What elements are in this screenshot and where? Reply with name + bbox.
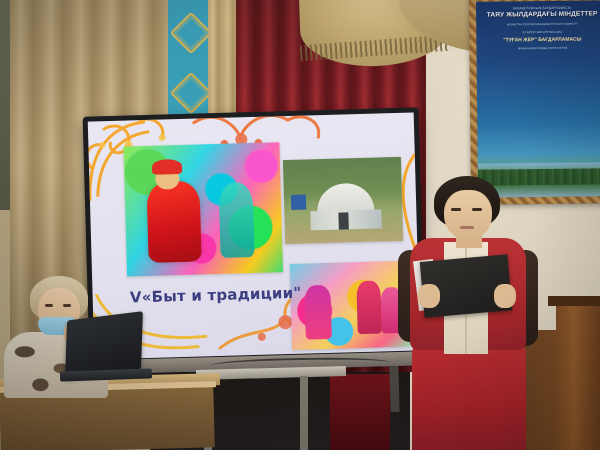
banner-body-line-3: ЖАҢА ҚАЗАҚСТАНДЫҚ ПАТРИОТИЗМ	[476, 46, 600, 51]
seated-woman-eye-right	[63, 304, 71, 307]
piano-lid	[548, 296, 600, 306]
slide-image-yurt	[283, 157, 403, 244]
banner-body-line-1: ҚАЗАҚСТАН РЕСПУБЛИКАСЫНЫҢ РУХАНИ ЖАҢҒЫРУ	[476, 22, 600, 27]
banner-subheading: "ТУҒАН ЖЕР" БАҒДАРЛАМАСЫ	[476, 36, 600, 43]
slide-image-dombra-player	[123, 142, 283, 276]
slide-title: V«Быт и традиции"	[120, 283, 310, 306]
presenter-face	[444, 190, 492, 240]
presenter-skirt	[412, 346, 526, 450]
seated-woman-eye-left	[45, 304, 53, 307]
standing-presenter	[396, 176, 548, 450]
dancer-figure	[218, 182, 254, 258]
presenter-eye-right	[472, 208, 482, 211]
kazakh-program-banner: ҚАЗАҚСТАННЫҢ БАҒДАРЛАМАСЫ ТАЯУ ЖЫЛДАРДАҒ…	[469, 0, 600, 205]
slide-image-traditional-scene	[290, 261, 410, 350]
side-table-leg-right	[300, 376, 308, 450]
banner-body-line-2: ЕЛ БІРЛІГІ МЕН ҰЛТТЫҚ САНА	[476, 30, 600, 35]
photo-scene: ҚАЗАҚСТАННЫҢ БАҒДАРЛАМАСЫ ТАЯУ ЖЫЛДАРДАҒ…	[0, 0, 600, 450]
curtain-behind-stand	[330, 374, 390, 450]
upright-piano	[556, 300, 600, 450]
banner-headline: ТАЯУ ЖЫЛДАРДАҒЫ МІНДЕТТЕР	[476, 10, 600, 18]
dombra-player-hat	[152, 159, 182, 174]
blue-tent	[291, 195, 307, 210]
yurt-door	[339, 212, 349, 229]
presenter-hand-left	[418, 284, 440, 308]
presenter-eye-left	[451, 208, 461, 211]
presenter-mouth	[460, 226, 474, 229]
dombra-player-figure	[146, 181, 201, 263]
traditional-figure-2	[356, 280, 381, 334]
presenter-hand-right	[494, 284, 516, 308]
